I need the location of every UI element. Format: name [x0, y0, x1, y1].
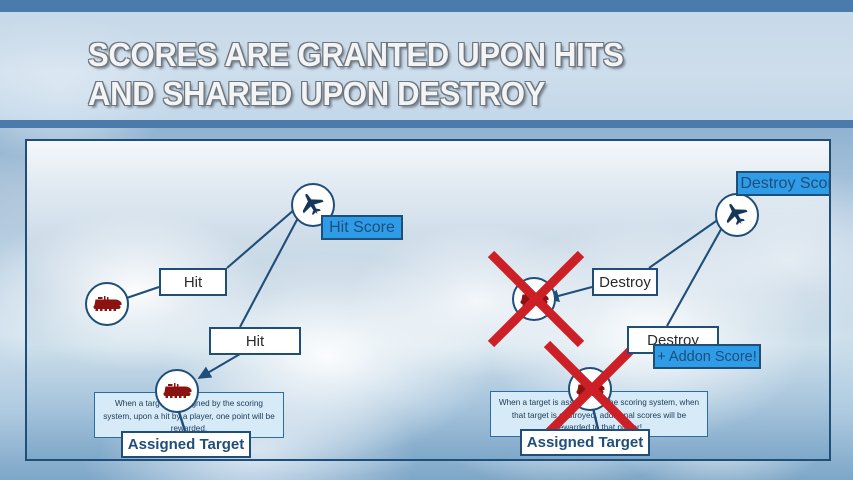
node-tank-lower-right[interactable]: [568, 367, 612, 411]
assigned-target-label-right[interactable]: Assigned Target: [520, 429, 650, 456]
hit-score-badge[interactable]: Hit Score: [321, 215, 403, 240]
edge-label-hit-1[interactable]: Hit: [159, 268, 227, 296]
banner-bottom-strip: [0, 120, 853, 128]
assigned-target-label-left[interactable]: Assigned Target: [121, 431, 251, 458]
connector-layer: [27, 141, 829, 459]
node-jet-right[interactable]: [715, 193, 759, 237]
addon-score-badge[interactable]: + Addon Score!: [653, 344, 761, 369]
node-tank-upper-left[interactable]: [85, 282, 129, 326]
edge-label-hit-2[interactable]: Hit: [209, 327, 301, 355]
title-banner: SCORES ARE GRANTED UPON HITS AND SHARED …: [0, 12, 853, 120]
node-tank-lower-left[interactable]: [155, 369, 199, 413]
destroy-score-badge[interactable]: Destroy Score: [736, 171, 831, 196]
page-title: SCORES ARE GRANTED UPON HITS AND SHARED …: [88, 36, 765, 114]
tank-icon: [161, 381, 193, 401]
tank-icon: [91, 294, 123, 314]
fighter-jet-icon: [722, 200, 752, 230]
tank-icon: [518, 289, 550, 309]
node-tank-upper-right[interactable]: [512, 277, 556, 321]
edge-label-destroy-1[interactable]: Destroy: [592, 268, 658, 296]
tank-icon: [574, 379, 606, 399]
banner-top-strip: [0, 0, 853, 12]
diagram-panel: Hit Score Hit: [25, 139, 831, 461]
slide-root: SCORES ARE GRANTED UPON HITS AND SHARED …: [0, 0, 853, 480]
